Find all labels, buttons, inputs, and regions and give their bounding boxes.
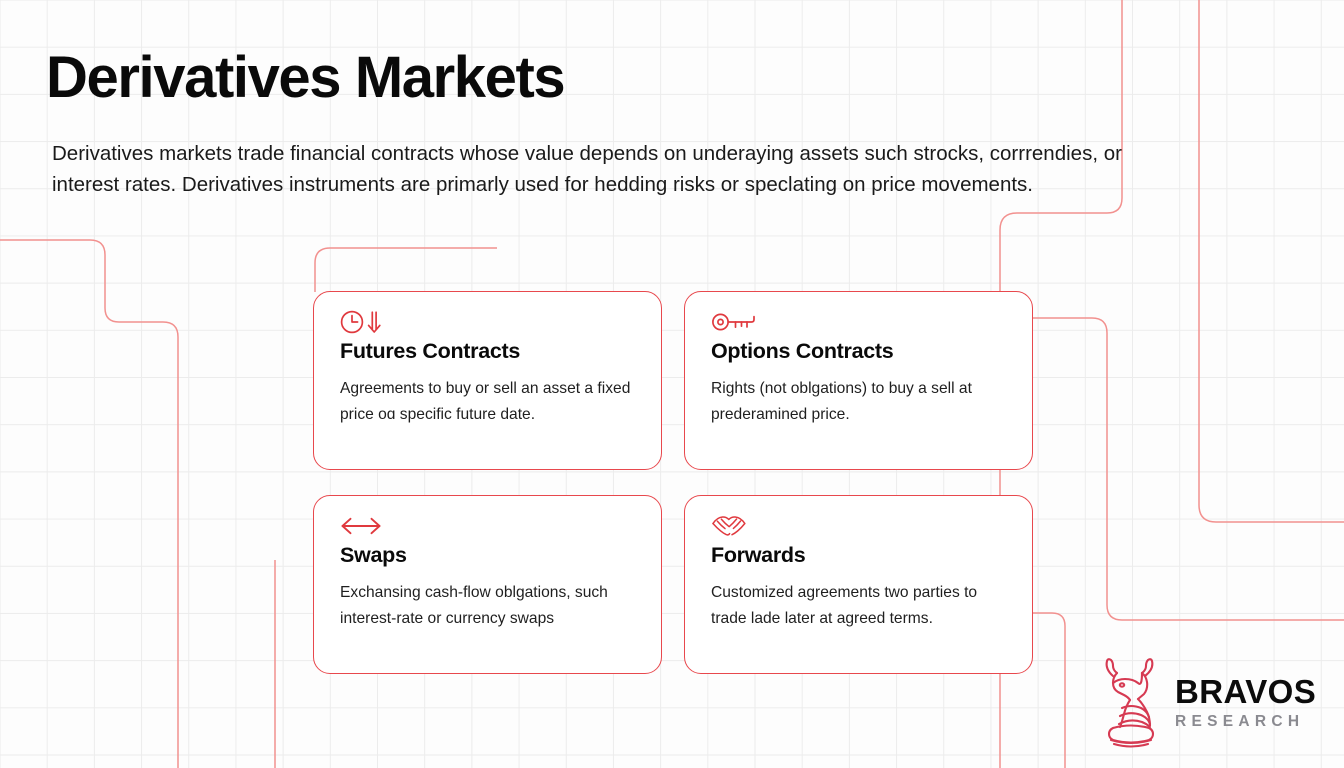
- card-options-contracts[interactable]: Options Contracts Rights (not oblgations…: [684, 291, 1033, 470]
- clock-down-arrow-icon: [340, 307, 636, 337]
- bull-chess-piece-icon: [1100, 656, 1162, 752]
- card-swaps[interactable]: Swaps Exchansing cash-flow oblgations, s…: [313, 495, 662, 674]
- card-description: Exchansing cash-flow oblgations, such in…: [340, 580, 636, 631]
- card-title: Futures Contracts: [340, 339, 636, 364]
- derivatives-card-grid: Futures Contracts Agreements to buy or s…: [313, 291, 1033, 688]
- intro-paragraph: Derivatives markets trade financial cont…: [52, 138, 1122, 200]
- card-futures-contracts[interactable]: Futures Contracts Agreements to buy or s…: [313, 291, 662, 470]
- card-title: Swaps: [340, 543, 636, 568]
- handshake-icon: [711, 511, 1007, 541]
- card-description: Agreements to buy or sell an asset a fix…: [340, 376, 636, 427]
- card-description: Customized agreements two parties to tra…: [711, 580, 1007, 631]
- card-title: Forwards: [711, 543, 1007, 568]
- brand-subtitle: RESEARCH: [1175, 714, 1316, 730]
- card-forwards[interactable]: Forwards Customized agreements two parti…: [684, 495, 1033, 674]
- card-title: Options Contracts: [711, 339, 1007, 364]
- brand-logo: BRAVOS RESEARCH: [1100, 656, 1316, 752]
- brand-text: BRAVOS RESEARCH: [1175, 675, 1316, 734]
- card-description: Rights (not oblgations) to buy a sell at…: [711, 376, 1007, 427]
- page-title: Derivatives Markets: [46, 48, 564, 109]
- key-icon: [711, 307, 1007, 337]
- brand-name: BRAVOS: [1175, 675, 1316, 708]
- left-right-arrow-icon: [340, 511, 636, 541]
